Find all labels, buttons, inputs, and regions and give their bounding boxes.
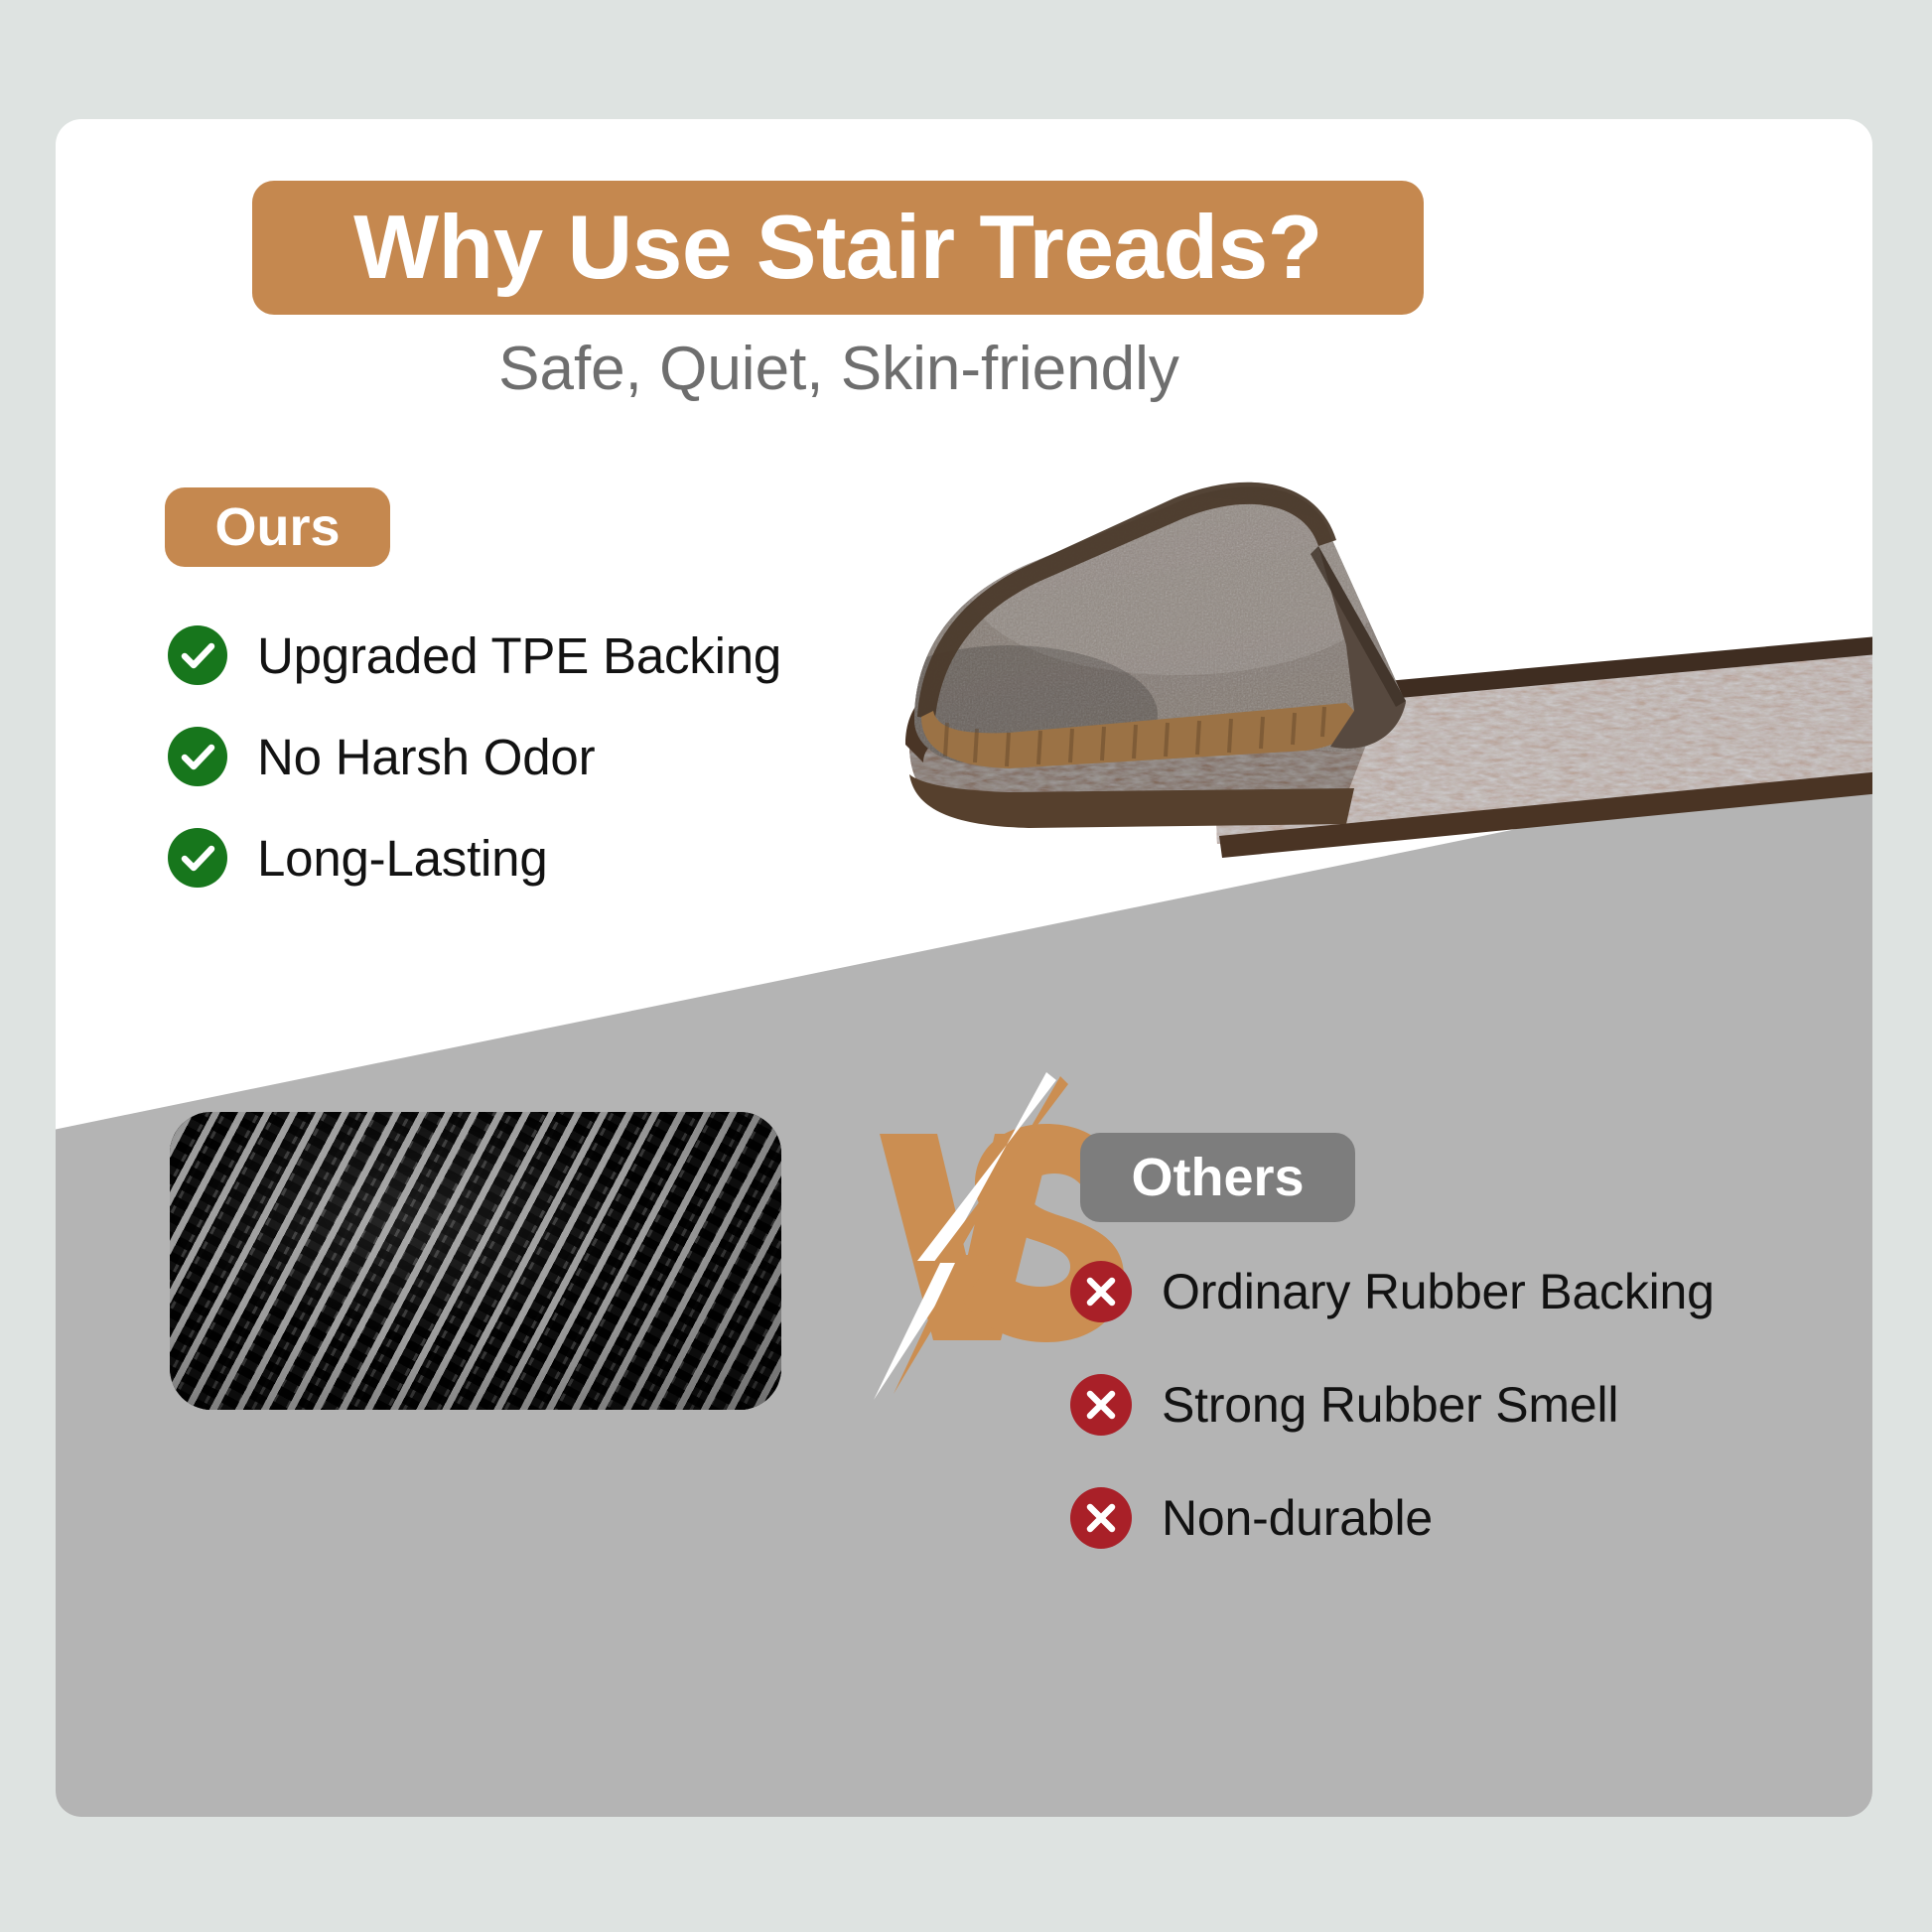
list-item: Upgraded TPE Backing — [168, 625, 781, 685]
list-item-label: Upgraded TPE Backing — [257, 626, 781, 685]
ours-product-image — [711, 447, 1872, 923]
list-item-label: No Harsh Odor — [257, 728, 595, 786]
list-item: Strong Rubber Smell — [1070, 1374, 1715, 1436]
cross-circle-icon — [1070, 1374, 1132, 1436]
title-banner: Why Use Stair Treads? — [252, 181, 1424, 315]
ours-badge-label: Ours — [214, 496, 340, 558]
others-feature-list: Ordinary Rubber Backing Strong Rubber Sm… — [1070, 1261, 1715, 1600]
page-title: Why Use Stair Treads? — [353, 203, 1322, 293]
ours-badge: Ours — [165, 487, 390, 567]
list-item-label: Non-durable — [1162, 1489, 1433, 1547]
check-circle-icon — [168, 727, 227, 786]
infographic-root: Why Use Stair Treads? Safe, Quiet, Skin-… — [0, 0, 1932, 1932]
list-item: No Harsh Odor — [168, 727, 781, 786]
list-item-label: Ordinary Rubber Backing — [1162, 1263, 1715, 1320]
others-badge-label: Others — [1131, 1147, 1304, 1208]
cross-circle-icon — [1070, 1487, 1132, 1549]
others-product-image — [170, 1112, 781, 1410]
check-circle-icon — [168, 828, 227, 888]
content-card: Why Use Stair Treads? Safe, Quiet, Skin-… — [56, 119, 1872, 1817]
list-item: Non-durable — [1070, 1487, 1715, 1549]
mat-shading-overlay — [170, 1112, 781, 1410]
cross-circle-icon — [1070, 1261, 1132, 1322]
check-circle-icon — [168, 625, 227, 685]
list-item-label: Long-Lasting — [257, 829, 548, 888]
list-item: Ordinary Rubber Backing — [1070, 1261, 1715, 1322]
page-subtitle: Safe, Quiet, Skin-friendly — [56, 334, 1622, 404]
ours-feature-list: Upgraded TPE Backing No Harsh Odor Long-… — [168, 625, 781, 929]
list-item-label: Strong Rubber Smell — [1162, 1376, 1618, 1434]
others-badge: Others — [1080, 1133, 1355, 1222]
list-item: Long-Lasting — [168, 828, 781, 888]
